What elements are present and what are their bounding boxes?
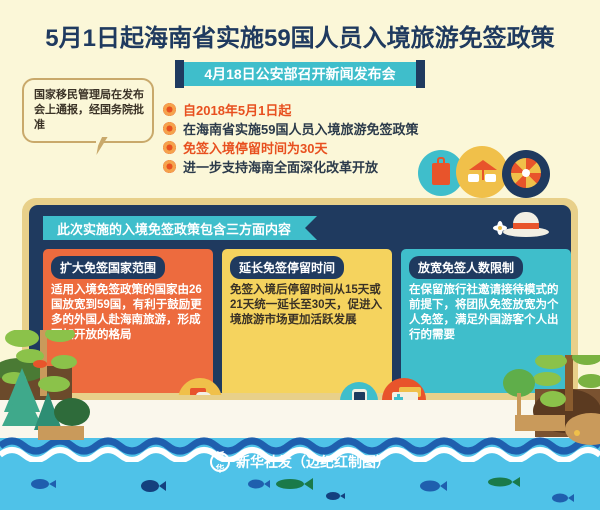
beach-chair-left-icon (468, 174, 479, 182)
page-title: 5月1日起海南省实施59国人员入境旅游免签政策 (0, 18, 600, 53)
list-item-label: 在海南省实施59国人员入境旅游免签政策 (183, 119, 418, 138)
beach-chair-right-icon (485, 174, 496, 182)
bullet-dot-icon (163, 122, 176, 135)
board-banner-label: 此次实施的入境免签政策包含三方面内容 (43, 216, 317, 240)
sun-hat-crown-icon (513, 212, 539, 232)
list-item: 自2018年5月1日起 (163, 100, 493, 119)
policy-card-heading: 延长免签停留时间 (230, 256, 344, 279)
list-item-label: 免签入境停留时间为30天 (183, 138, 327, 157)
right-trees-scene (495, 355, 600, 450)
suitcase-icon (432, 163, 450, 185)
parasol-center-icon (522, 169, 530, 177)
fish-silhouettes (0, 472, 600, 510)
policy-card-heading: 扩大免签国家范围 (51, 256, 165, 279)
list-item-label: 自2018年5月1日起 (183, 100, 291, 119)
speech-bubble-tail-inner (96, 135, 103, 150)
policy-card-body: 在保留旅行社邀请接待模式的前提下，将团队免签放宽为个人免签，满足外国游客个人出行… (409, 283, 563, 343)
left-trees-scene (0, 330, 120, 440)
policy-cards: 扩大免签国家范围 适用入境免签政策的国家由26国放宽到59国，有利于鼓励更多的外… (43, 249, 571, 393)
ribbon-end-right (416, 60, 425, 88)
policy-card-extend-stay: 延长免签停留时间 免签入境后停留时间从15天或21天统一延长至30天，促进入境旅… (222, 249, 392, 393)
footer-credit: 新华 新华社发（边纪红制图） (0, 452, 600, 472)
sun-hat-band-icon (513, 223, 539, 229)
suitcase-handle-icon (437, 157, 445, 165)
xinhua-logo-icon: 新华 (210, 452, 230, 472)
bullet-dot-icon (163, 141, 176, 154)
bullet-dot-icon (163, 160, 176, 173)
footer-credit-label: 新华社发（边纪红制图） (236, 452, 390, 472)
subtitle-ribbon-label: 4月18日公安部召开新闻发布会 (184, 62, 416, 86)
flower-icon (493, 221, 507, 235)
speech-bubble: 国家移民管理局在发布会上通报，经国务院批准 (22, 78, 154, 143)
infographic-root: 5月1日起海南省实施59国人员入境旅游免签政策 4月18日公安部召开新闻发布会 … (0, 0, 600, 510)
subtitle-ribbon: 4月18日公安部召开新闻发布会 (175, 60, 425, 88)
beach-umbrella-pole-icon (482, 168, 484, 180)
policy-card-body: 免签入境后停留时间从15天或21天统一延长至30天，促进入境旅游市场更加活跃发展 (230, 283, 384, 328)
list-item-label: 进一步支持海南全面深化改革开放 (183, 157, 378, 176)
list-item: 在海南省实施59国人员入境旅游免签政策 (163, 119, 493, 138)
policy-card-heading: 放宽免签人数限制 (409, 256, 523, 279)
ribbon-end-left (175, 60, 184, 88)
bullet-dot-icon (163, 103, 176, 116)
